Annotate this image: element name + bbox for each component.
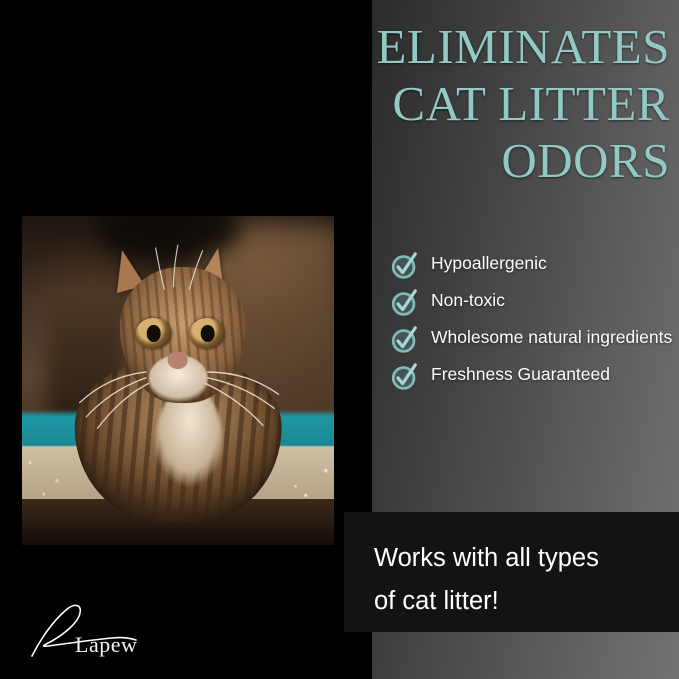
advertisement-banner: ELIMINATES CAT LITTER ODORS Hypoallergen… [0,0,679,679]
list-item: Freshness Guaranteed [390,361,675,392]
feature-label: Wholesome natural ingredients [431,324,672,351]
check-circle-icon [390,362,420,392]
page-title: ELIMINATES CAT LITTER ODORS [250,18,670,189]
kitten [66,239,291,522]
check-circle-icon [390,325,420,355]
list-item: Wholesome natural ingredients [390,324,675,355]
cta-text: Works with all types of cat litter! [374,537,664,623]
headline-line-2: CAT LITTER [250,75,670,132]
cta-line-1: Works with all types [374,537,664,580]
logo-wordmark: Lapew [75,632,137,658]
list-item: Hypoallergenic [390,250,675,281]
feature-label: Freshness Guaranteed [431,361,610,388]
headline-line-3: ODORS [250,132,670,189]
headline-line-1: ELIMINATES [250,18,670,75]
kitten-litter-box-photo [22,216,334,545]
cta-box: Works with all types of cat litter! [344,512,679,632]
feature-label: Non-toxic [431,287,505,314]
list-item: Non-toxic [390,287,675,318]
brand-logo: Lapew [30,600,160,662]
feature-label: Hypoallergenic [431,250,547,277]
feature-list: Hypoallergenic Non-toxic Wholesome n [390,250,675,398]
check-circle-icon [390,288,420,318]
cta-line-2: of cat litter! [374,580,664,623]
check-circle-icon [390,251,420,281]
